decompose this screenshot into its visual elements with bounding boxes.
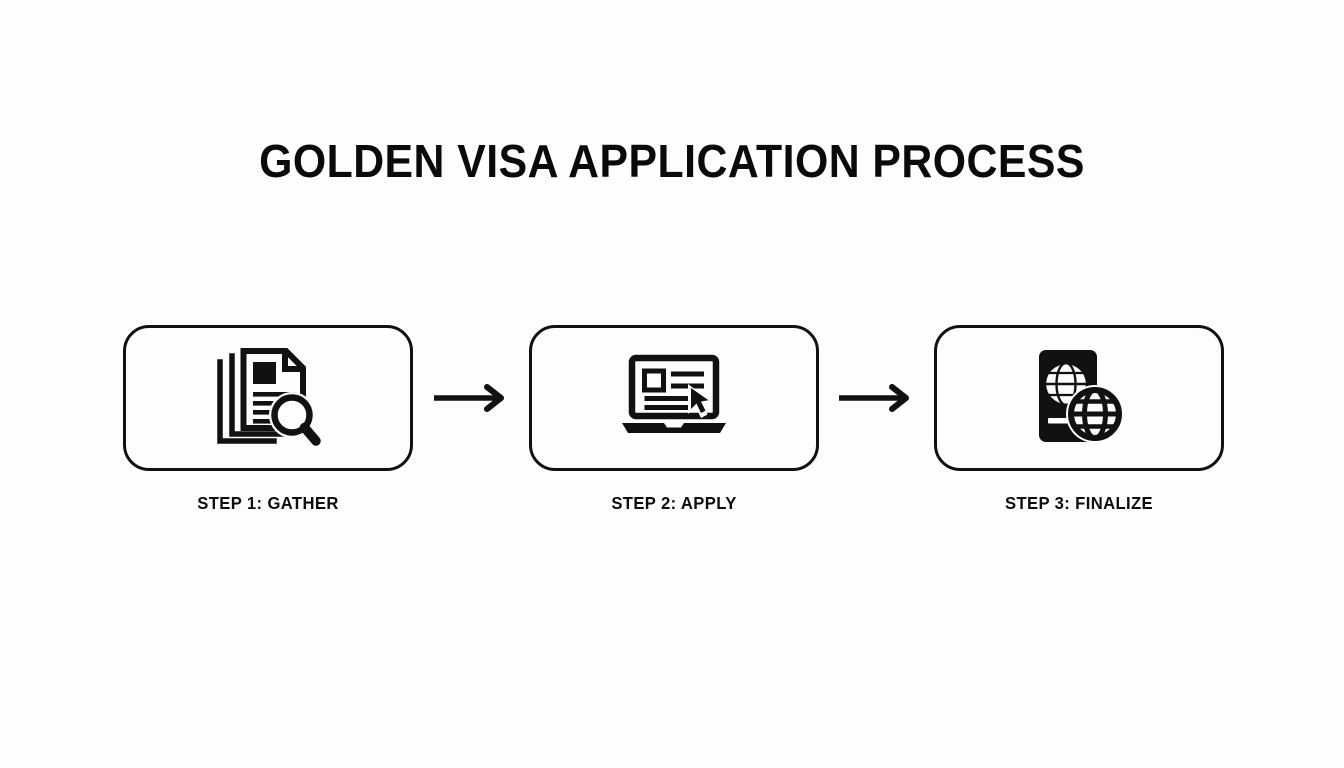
- arrow-right-icon-2: [833, 378, 919, 418]
- process-step-2[interactable]: STEP 2: APPLY: [529, 325, 819, 471]
- passport-globe-icon: [1021, 346, 1137, 450]
- step-label-3: STEP 3: FINALIZE: [941, 493, 1217, 514]
- laptop-online-form-cursor-icon: [616, 346, 732, 450]
- arrow-right-icon-1: [428, 378, 514, 418]
- process-step-3[interactable]: STEP 3: FINALIZE: [934, 325, 1224, 471]
- process-flow: STEP 1: GATHER: [123, 325, 1224, 471]
- process-step-1[interactable]: STEP 1: GATHER: [123, 325, 413, 471]
- page-title: GOLDEN VISA APPLICATION PROCESS: [47, 134, 1297, 188]
- slide-canvas: GOLDEN VISA APPLICATION PROCESS: [0, 0, 1344, 768]
- step-card-3[interactable]: [934, 325, 1224, 471]
- step-card-2[interactable]: [529, 325, 819, 471]
- step-label-2: STEP 2: APPLY: [536, 493, 812, 514]
- step-label-1: STEP 1: GATHER: [130, 493, 406, 514]
- documents-magnifier-icon: [210, 346, 326, 450]
- step-card-1[interactable]: [123, 325, 413, 471]
